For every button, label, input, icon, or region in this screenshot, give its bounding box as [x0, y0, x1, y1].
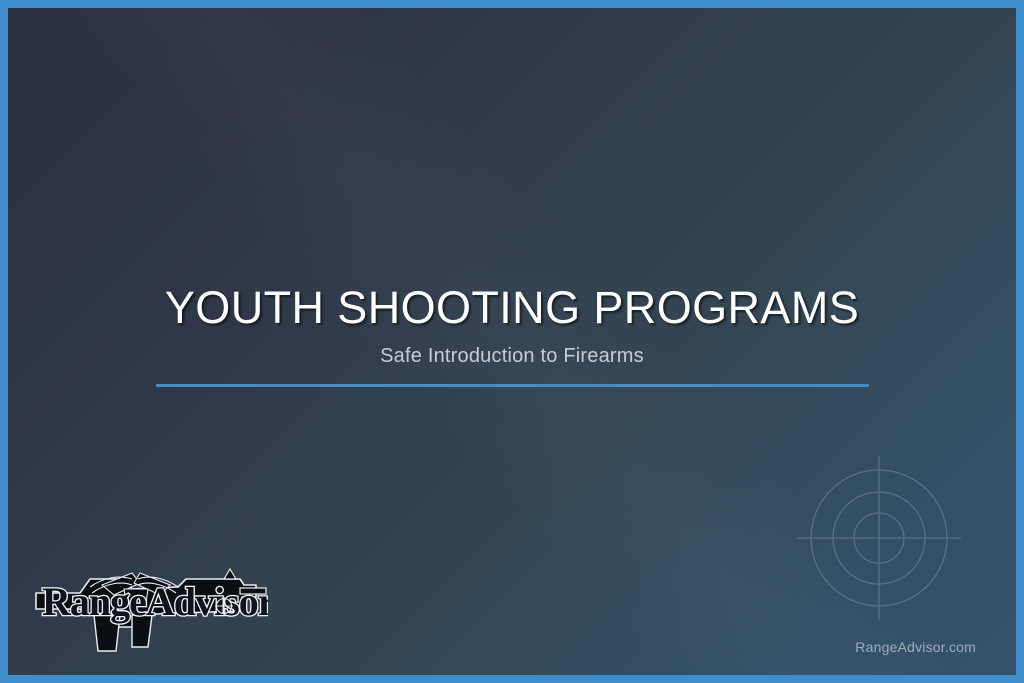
- slide-border-left: [0, 0, 8, 683]
- crosshair-target-icon: [793, 452, 965, 624]
- presentation-slide: YOUTH SHOOTING PROGRAMS Safe Introductio…: [0, 0, 1024, 683]
- logo-wordmark: RangeAdvisor: [42, 579, 268, 624]
- title-divider: [156, 384, 869, 387]
- rangeadvisor-logo: RangeAdvisor: [28, 563, 268, 655]
- slide-canvas: YOUTH SHOOTING PROGRAMS Safe Introductio…: [8, 8, 1016, 675]
- slide-border-bottom: [0, 675, 1024, 683]
- slide-border-right: [1016, 0, 1024, 683]
- slide-title: YOUTH SHOOTING PROGRAMS: [8, 284, 1016, 331]
- slide-subtitle: Safe Introduction to Firearms: [8, 345, 1016, 367]
- slide-border-top: [0, 0, 1024, 8]
- title-block: YOUTH SHOOTING PROGRAMS Safe Introductio…: [8, 284, 1016, 387]
- logo-text: RangeAdvisor: [42, 579, 268, 624]
- footer-url: RangeAdvisor.com: [855, 639, 976, 655]
